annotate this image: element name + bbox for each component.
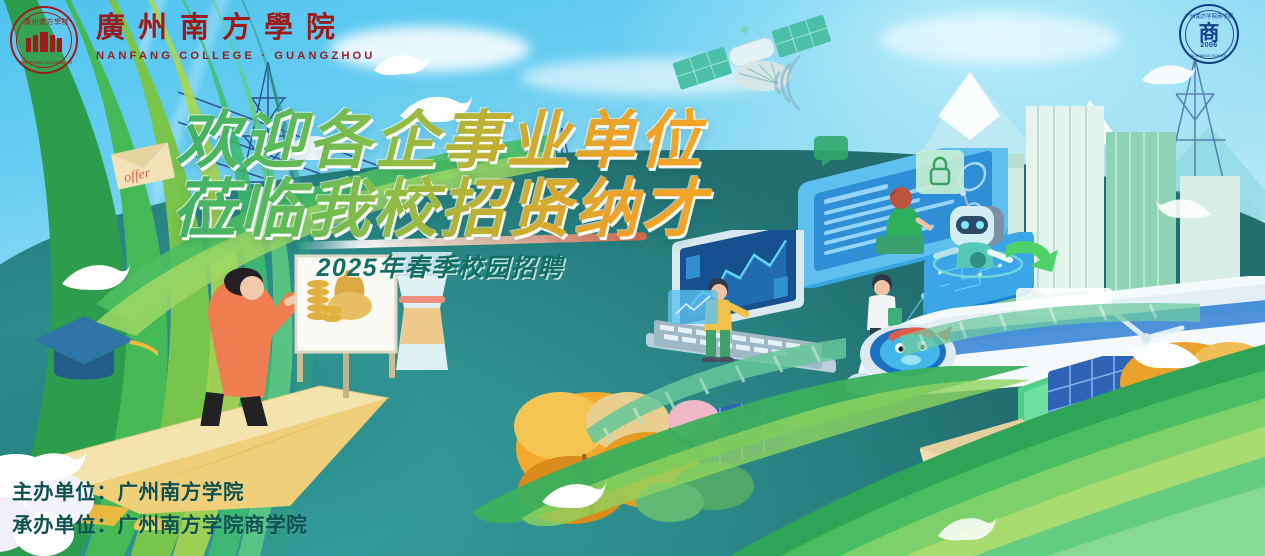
university-name-block: 廣州南方學院 NANFANG COLLEGE · GUANGZHOU xyxy=(96,14,375,62)
dove-icon xyxy=(540,476,606,514)
organizer-line: 主办单位：广州南方学院 xyxy=(12,476,307,509)
university-logo: 廣州南方學院 NANFANG COLLEGE · GUANGZHOU xyxy=(10,6,78,74)
co-organizer-line: 承办单位：广州南方学院商学院 xyxy=(12,509,307,542)
seal-bottom-text: NANFANG COLLEGE · GUANGZHOU xyxy=(20,58,72,68)
seal2-year: 2006 xyxy=(1181,42,1237,49)
title-block: 欢迎各企事业单位 莅临我校招贤纳才 2025年春季校园招聘 xyxy=(0,108,880,284)
dove-icon xyxy=(936,512,996,546)
recruitment-banner: offer xyxy=(0,0,1265,556)
green-swoosh-thin xyxy=(330,366,1030,526)
seal-gate-icon xyxy=(25,30,63,52)
title-line-1: 欢迎各企事业单位 xyxy=(0,108,880,174)
footer-block: 主办单位：广州南方学院 承办单位：广州南方学院商学院 xyxy=(12,476,307,542)
business-school-logo: 广州南方学院商学院 商 2006 BUSINESS SCHOOL xyxy=(1179,4,1239,64)
dove-icon xyxy=(1126,334,1202,376)
dove-icon xyxy=(372,48,432,82)
seal-top-text: 廣州南方學院 xyxy=(24,15,68,31)
title-line-2: 莅临我校招贤纳才 xyxy=(0,176,880,242)
hologram-panel xyxy=(666,286,724,330)
graduation-cap-icon xyxy=(28,310,158,394)
dove-icon xyxy=(1156,192,1212,224)
seal2-top-text: 广州南方学院商学院 xyxy=(1181,12,1237,20)
university-name-en: NANFANG COLLEGE · GUANGZHOU xyxy=(96,50,375,62)
university-name-cn: 廣州南方學院 xyxy=(96,14,375,43)
seal2-bottom-text: BUSINESS SCHOOL xyxy=(1181,53,1237,58)
subtitle: 2025年春季校园招聘 xyxy=(0,248,880,284)
seal2-char: 商 xyxy=(1199,17,1220,47)
